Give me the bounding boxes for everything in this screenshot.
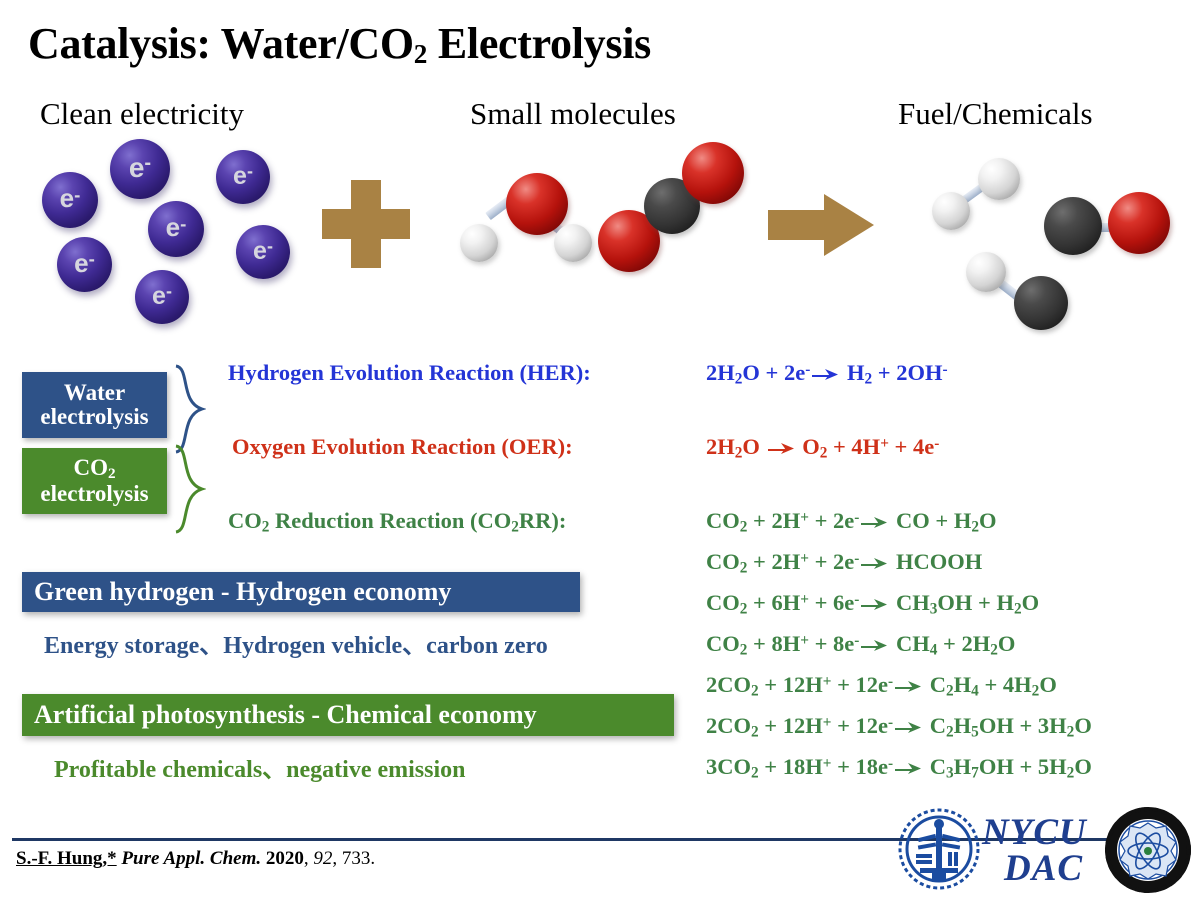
citation: S.-F. Hung,* Pure Appl. Chem. 2020, 92, … xyxy=(16,848,375,870)
electron-sphere: e- xyxy=(236,225,290,279)
reaction-arrow-icon xyxy=(861,554,888,573)
electron-label: e xyxy=(129,152,145,183)
reaction-equation-co2rr-extra: CO2 + 6H+ + 6e- CH3OH + H2O xyxy=(706,590,1039,618)
brace-water-electrolysis xyxy=(172,364,206,454)
category-line-2: electrolysis xyxy=(40,405,148,429)
reaction-equation-co2rr-extra: 3CO2 + 18H+ + 18e- C3H7OH + 5H2O xyxy=(706,754,1092,782)
column-heading-small-molecules: Small molecules xyxy=(470,96,676,132)
atom-carbon xyxy=(1044,197,1102,255)
category-line-1-text: CO xyxy=(73,455,108,480)
category-box-water-electrolysis[interactable]: Water electrolysis xyxy=(22,372,167,438)
title-suffix: Electrolysis xyxy=(427,19,651,68)
category-line-1: Water xyxy=(64,381,125,405)
molecule-hydrocarbon xyxy=(966,248,1076,330)
electron-sphere: e- xyxy=(216,150,270,204)
molecule-hydrogen xyxy=(930,158,1040,238)
column-heading-fuel-chemicals: Fuel/Chemicals xyxy=(898,96,1093,132)
nycu-dac-wordmark: NYCU DAC xyxy=(978,806,1118,892)
reaction-equation-her: 2H2O + 2e- H2 + 2OH- xyxy=(706,360,948,388)
atom-oxygen xyxy=(506,173,568,235)
category-line-1: CO2 xyxy=(73,456,115,482)
banner-green-hydrogen[interactable]: Green hydrogen - Hydrogen economy xyxy=(22,572,580,612)
page-title: Catalysis: Water/CO2 Electrolysis xyxy=(28,18,651,70)
reaction-equation-co2rr-extra: CO2 + 8H+ + 8e- CH4 + 2H2O xyxy=(706,631,1015,659)
electron-label: e xyxy=(152,282,166,310)
atom-oxygen xyxy=(682,142,744,204)
atom-carbon xyxy=(1014,276,1068,330)
electron-sphere: e- xyxy=(42,172,98,228)
electron-charge: - xyxy=(144,152,151,174)
department-seal-logo-icon xyxy=(1104,806,1192,894)
reaction-arrow-icon xyxy=(768,439,795,458)
atom-hydrogen xyxy=(460,224,498,262)
reaction-arrow-icon xyxy=(861,636,888,655)
atom-hydrogen xyxy=(932,192,970,230)
reaction-arrow-icon xyxy=(895,759,922,778)
right-arrow-icon xyxy=(768,192,874,258)
electron-label: e xyxy=(74,248,88,278)
reaction-equation-co2rr-extra: CO2 + 2H+ + 2e- HCOOH xyxy=(706,549,982,577)
electron-charge: - xyxy=(267,236,273,256)
reaction-equation-co2rr: CO2 + 2H+ + 2e- CO + H2O xyxy=(706,508,997,536)
atom-hydrogen xyxy=(978,158,1020,200)
citation-comma: , xyxy=(332,848,337,869)
electron-label: e xyxy=(60,183,74,213)
banner-artificial-photosynthesis[interactable]: Artificial photosynthesis - Chemical eco… xyxy=(22,694,674,736)
atom-hydrogen xyxy=(966,252,1006,292)
molecule-carbon-dioxide xyxy=(592,148,742,278)
citation-comma: , xyxy=(304,848,309,869)
reaction-label-her: Hydrogen Evolution Reaction (HER): xyxy=(228,360,591,386)
electron-sphere: e- xyxy=(148,201,204,257)
brace-co2-electrolysis xyxy=(172,444,206,534)
reaction-label-oer: Oxygen Evolution Reaction (OER): xyxy=(232,434,573,460)
electron-charge: - xyxy=(247,161,253,181)
electron-charge: - xyxy=(74,184,80,205)
electron-sphere: e- xyxy=(110,139,170,199)
electron-charge: - xyxy=(89,248,95,269)
citation-year: 2020 xyxy=(266,848,304,869)
electron-charge: - xyxy=(166,281,172,301)
column-heading-clean-electricity: Clean electricity xyxy=(40,96,244,132)
citation-journal: Pure Appl. Chem. xyxy=(121,848,261,869)
category-box-co2-electrolysis[interactable]: CO2 electrolysis xyxy=(22,448,167,514)
nycu-text-line-1: NYCU xyxy=(982,814,1087,851)
banner-subtitle-green-hydrogen: Energy storage、Hydrogen vehicle、carbon z… xyxy=(44,625,548,660)
reaction-equation-oer: 2H2O O2 + 4H+ + 4e- xyxy=(706,434,939,462)
title-prefix: Catalysis: Water/CO xyxy=(28,19,414,68)
category-line-1-sub: 2 xyxy=(108,465,116,482)
atom-hydrogen xyxy=(554,224,592,262)
banner-title: Green hydrogen - Hydrogen economy xyxy=(34,577,451,607)
atom-oxygen xyxy=(1108,192,1170,254)
electron-charge: - xyxy=(180,213,186,234)
reaction-label-co2rr: CO2 Reduction Reaction (CO2RR): xyxy=(228,508,566,536)
electron-sphere: e- xyxy=(57,237,112,292)
nycu-text-line-2: DAC xyxy=(1004,850,1083,887)
electron-label: e xyxy=(253,237,267,265)
electron-sphere: e- xyxy=(135,270,189,324)
reaction-equation-co2rr-extra: 2CO2 + 12H+ + 12e- C2H5OH + 3H2O xyxy=(706,713,1092,741)
plus-sign-icon xyxy=(322,180,410,268)
electron-label: e xyxy=(166,212,180,242)
category-line-2: electrolysis xyxy=(40,482,148,506)
citation-page: 733. xyxy=(342,848,375,869)
reaction-arrow-icon xyxy=(895,718,922,737)
nycu-gear-logo-icon xyxy=(896,806,982,892)
banner-title: Artificial photosynthesis - Chemical eco… xyxy=(34,700,537,730)
reaction-equation-co2rr-extra: 2CO2 + 12H+ + 12e- C2H4 + 4H2O xyxy=(706,672,1057,700)
electron-label: e xyxy=(233,162,247,190)
reaction-arrow-icon xyxy=(861,595,888,614)
reaction-arrow-icon xyxy=(812,365,839,384)
reaction-arrow-icon xyxy=(895,677,922,696)
molecule-water xyxy=(450,150,610,270)
banner-subtitle-artificial-photosynthesis: Profitable chemicals、negative emission xyxy=(54,749,466,784)
citation-author: S.-F. Hung,* xyxy=(16,848,117,869)
reaction-arrow-icon xyxy=(861,513,888,532)
title-subscript: 2 xyxy=(414,39,427,69)
citation-volume: 92 xyxy=(313,848,332,869)
